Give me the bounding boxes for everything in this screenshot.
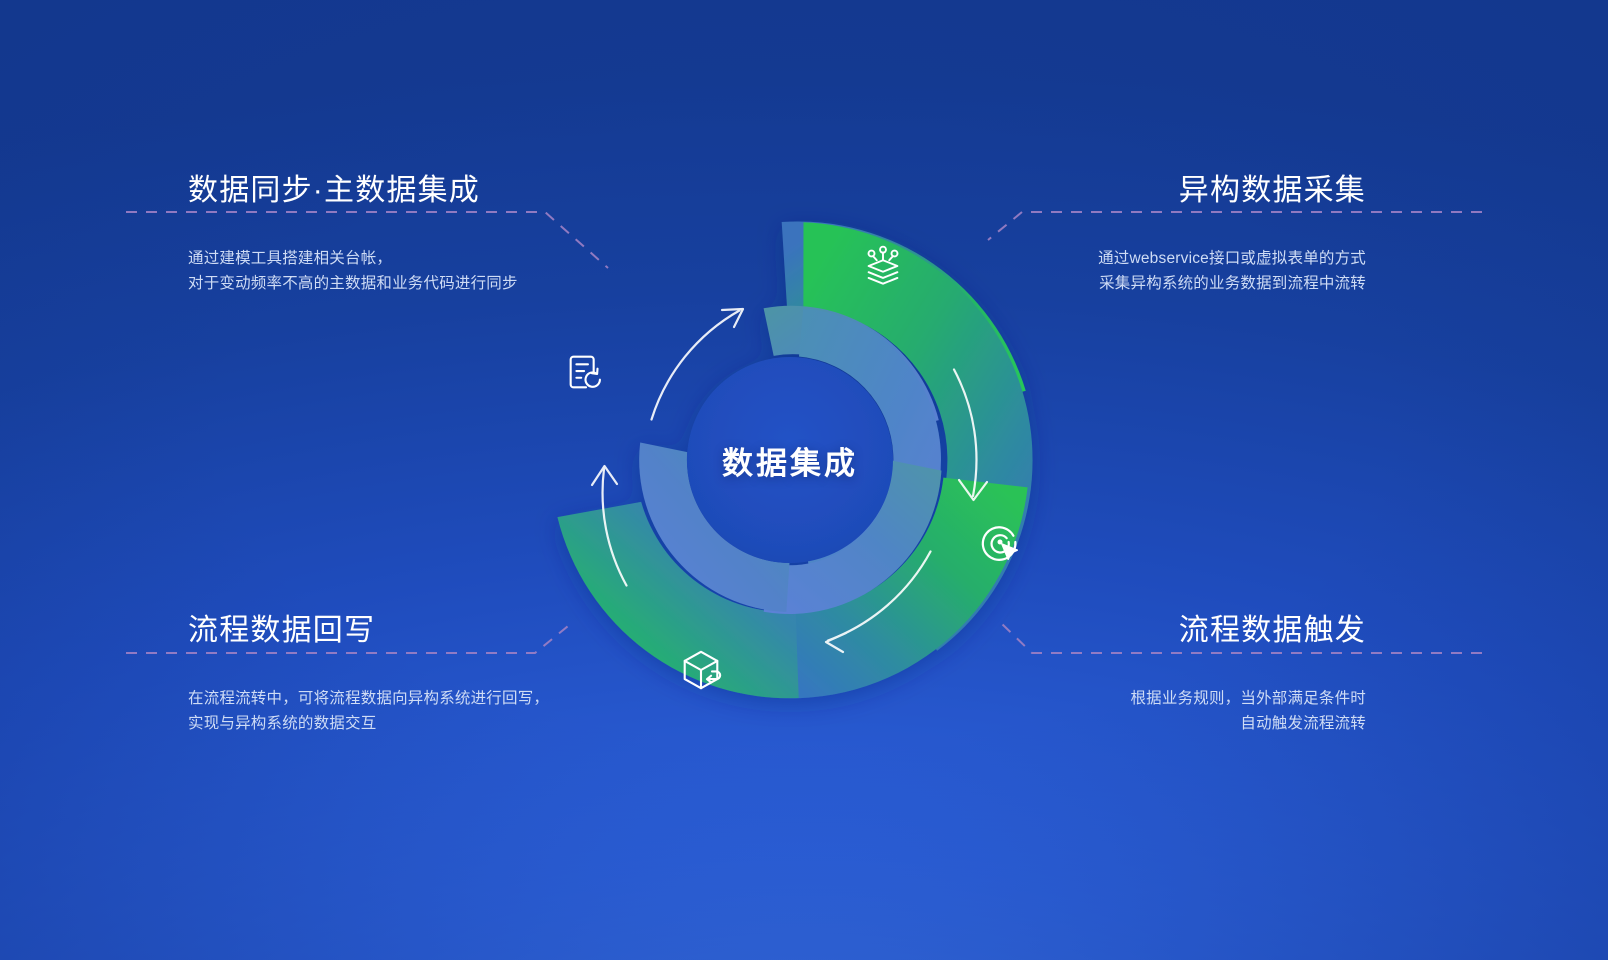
desc-line: 通过webservice接口或虚拟表单的方式	[1098, 250, 1366, 267]
quadrant-desc-process-writeback: 在流程流转中，可将流程数据向异构系统进行回写， 实现与异构系统的数据交互	[188, 686, 549, 736]
desc-line: 通过建模工具搭建相关台帐，	[188, 250, 392, 267]
quadrant-title-process-trigger: 流程数据触发	[1130, 614, 1366, 648]
desc-line: 根据业务规则，当外部满足条件时	[1130, 690, 1366, 707]
quadrant-title-data-sync: 数据同步·主数据集成	[188, 174, 518, 208]
document-sync-icon	[563, 349, 609, 395]
quadrant-title-process-writeback: 流程数据回写	[188, 614, 549, 648]
quadrant-desc-data-sync: 通过建模工具搭建相关台帐， 对于变动频率不高的主数据和业务代码进行同步	[188, 246, 518, 296]
quadrant-process-trigger: 流程数据触发 根据业务规则，当外部满足条件时 自动触发流程流转	[1130, 614, 1366, 736]
quadrant-heterogeneous-collection: 异构数据采集 通过webservice接口或虚拟表单的方式 采集异构系统的业务数…	[1098, 174, 1366, 296]
desc-line: 采集异构系统的业务数据到流程中流转	[1099, 275, 1366, 292]
quadrant-desc-heterogeneous-collection: 通过webservice接口或虚拟表单的方式 采集异构系统的业务数据到流程中流转	[1098, 246, 1366, 296]
desc-line: 对于变动频率不高的主数据和业务代码进行同步	[188, 275, 518, 292]
donut-chart-svg	[500, 170, 1080, 750]
target-trigger-icon	[977, 519, 1023, 565]
donut-center-disc	[687, 357, 893, 563]
desc-line: 实现与异构系统的数据交互	[188, 715, 376, 732]
data-collect-icon	[860, 242, 906, 288]
quadrant-data-sync: 数据同步·主数据集成 通过建模工具搭建相关台帐， 对于变动频率不高的主数据和业务…	[188, 174, 518, 296]
cube-writeback-icon	[678, 647, 724, 693]
desc-line: 在流程流转中，可将流程数据向异构系统进行回写，	[188, 690, 549, 707]
infographic-stage: 数据集成	[0, 0, 1608, 960]
quadrant-title-heterogeneous-collection: 异构数据采集	[1098, 174, 1366, 208]
desc-line: 自动触发流程流转	[1240, 715, 1366, 732]
data-integration-donut: 数据集成	[500, 170, 1080, 750]
quadrant-desc-process-trigger: 根据业务规则，当外部满足条件时 自动触发流程流转	[1130, 686, 1366, 736]
quadrant-process-writeback: 流程数据回写 在流程流转中，可将流程数据向异构系统进行回写， 实现与异构系统的数…	[188, 614, 549, 736]
